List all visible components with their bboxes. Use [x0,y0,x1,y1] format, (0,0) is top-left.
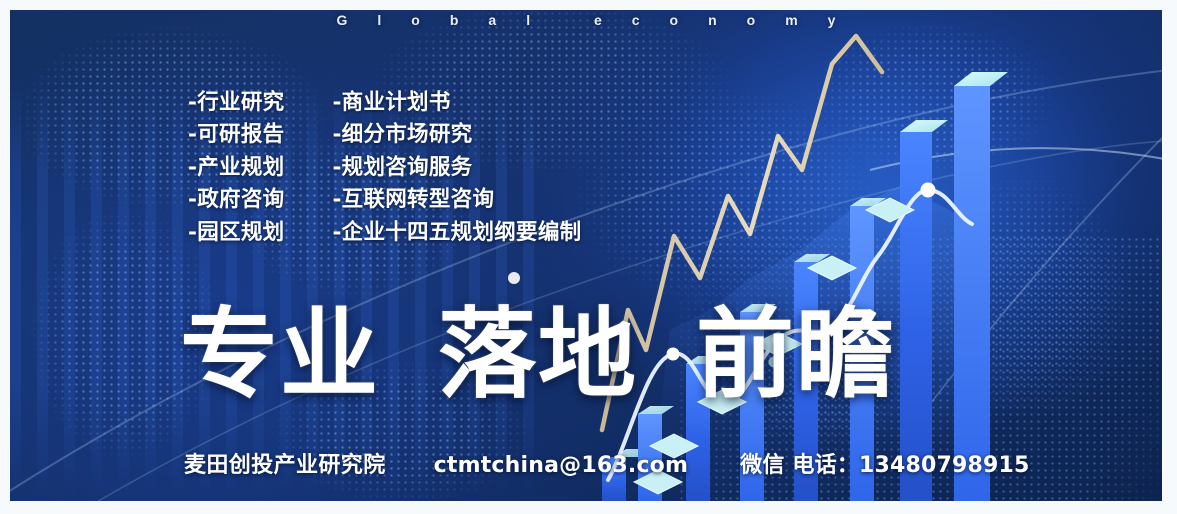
growth-chart-graphic [10,10,1162,501]
service-item: -行业研究 [188,88,284,117]
chart-bar [954,72,1008,501]
service-item: -细分市场研究 [332,120,581,149]
service-item: -园区规划 [188,218,284,247]
service-column-left: -行业研究 -可研报告 -产业规划 -政府咨询 -园区规划 [188,88,284,247]
contact-bar: 麦田创投产业研究院 ctmtchina@163.com 微信 电话：134807… [184,447,1030,479]
email-address[interactable]: ctmtchina@163.com [434,453,689,478]
phone-number[interactable]: 微信 电话：13480798915 [740,447,1029,479]
headline-word-2: 落地 [438,306,638,404]
headline-word-3: 前瞻 [696,306,896,404]
company-name: 麦田创投产业研究院 [184,447,386,479]
service-column-right: -商业计划书 -细分市场研究 -规划咨询服务 -互联网转型咨询 -企业十四五规划… [332,88,581,247]
service-item: -政府咨询 [188,185,284,214]
service-lists: -行业研究 -可研报告 -产业规划 -政府咨询 -园区规划 -商业计划书 -细分… [188,88,581,247]
service-item: -产业规划 [188,153,284,182]
service-item: -企业十四五规划纲要编制 [332,218,581,247]
banner-root: Global economy -行业研究 -可研报告 -产业规划 -政府咨询 -… [0,0,1177,514]
headline: 专业 落地 前瞻 [180,306,896,404]
service-item: -互联网转型咨询 [332,185,581,214]
service-item: -规划咨询服务 [332,153,581,182]
banner-canvas: Global economy -行业研究 -可研报告 -产业规划 -政府咨询 -… [10,10,1162,501]
headline-word-1: 专业 [180,306,380,404]
service-item: -可研报告 [188,120,284,149]
header-title: Global economy [10,12,1162,28]
service-item: -商业计划书 [332,88,581,117]
